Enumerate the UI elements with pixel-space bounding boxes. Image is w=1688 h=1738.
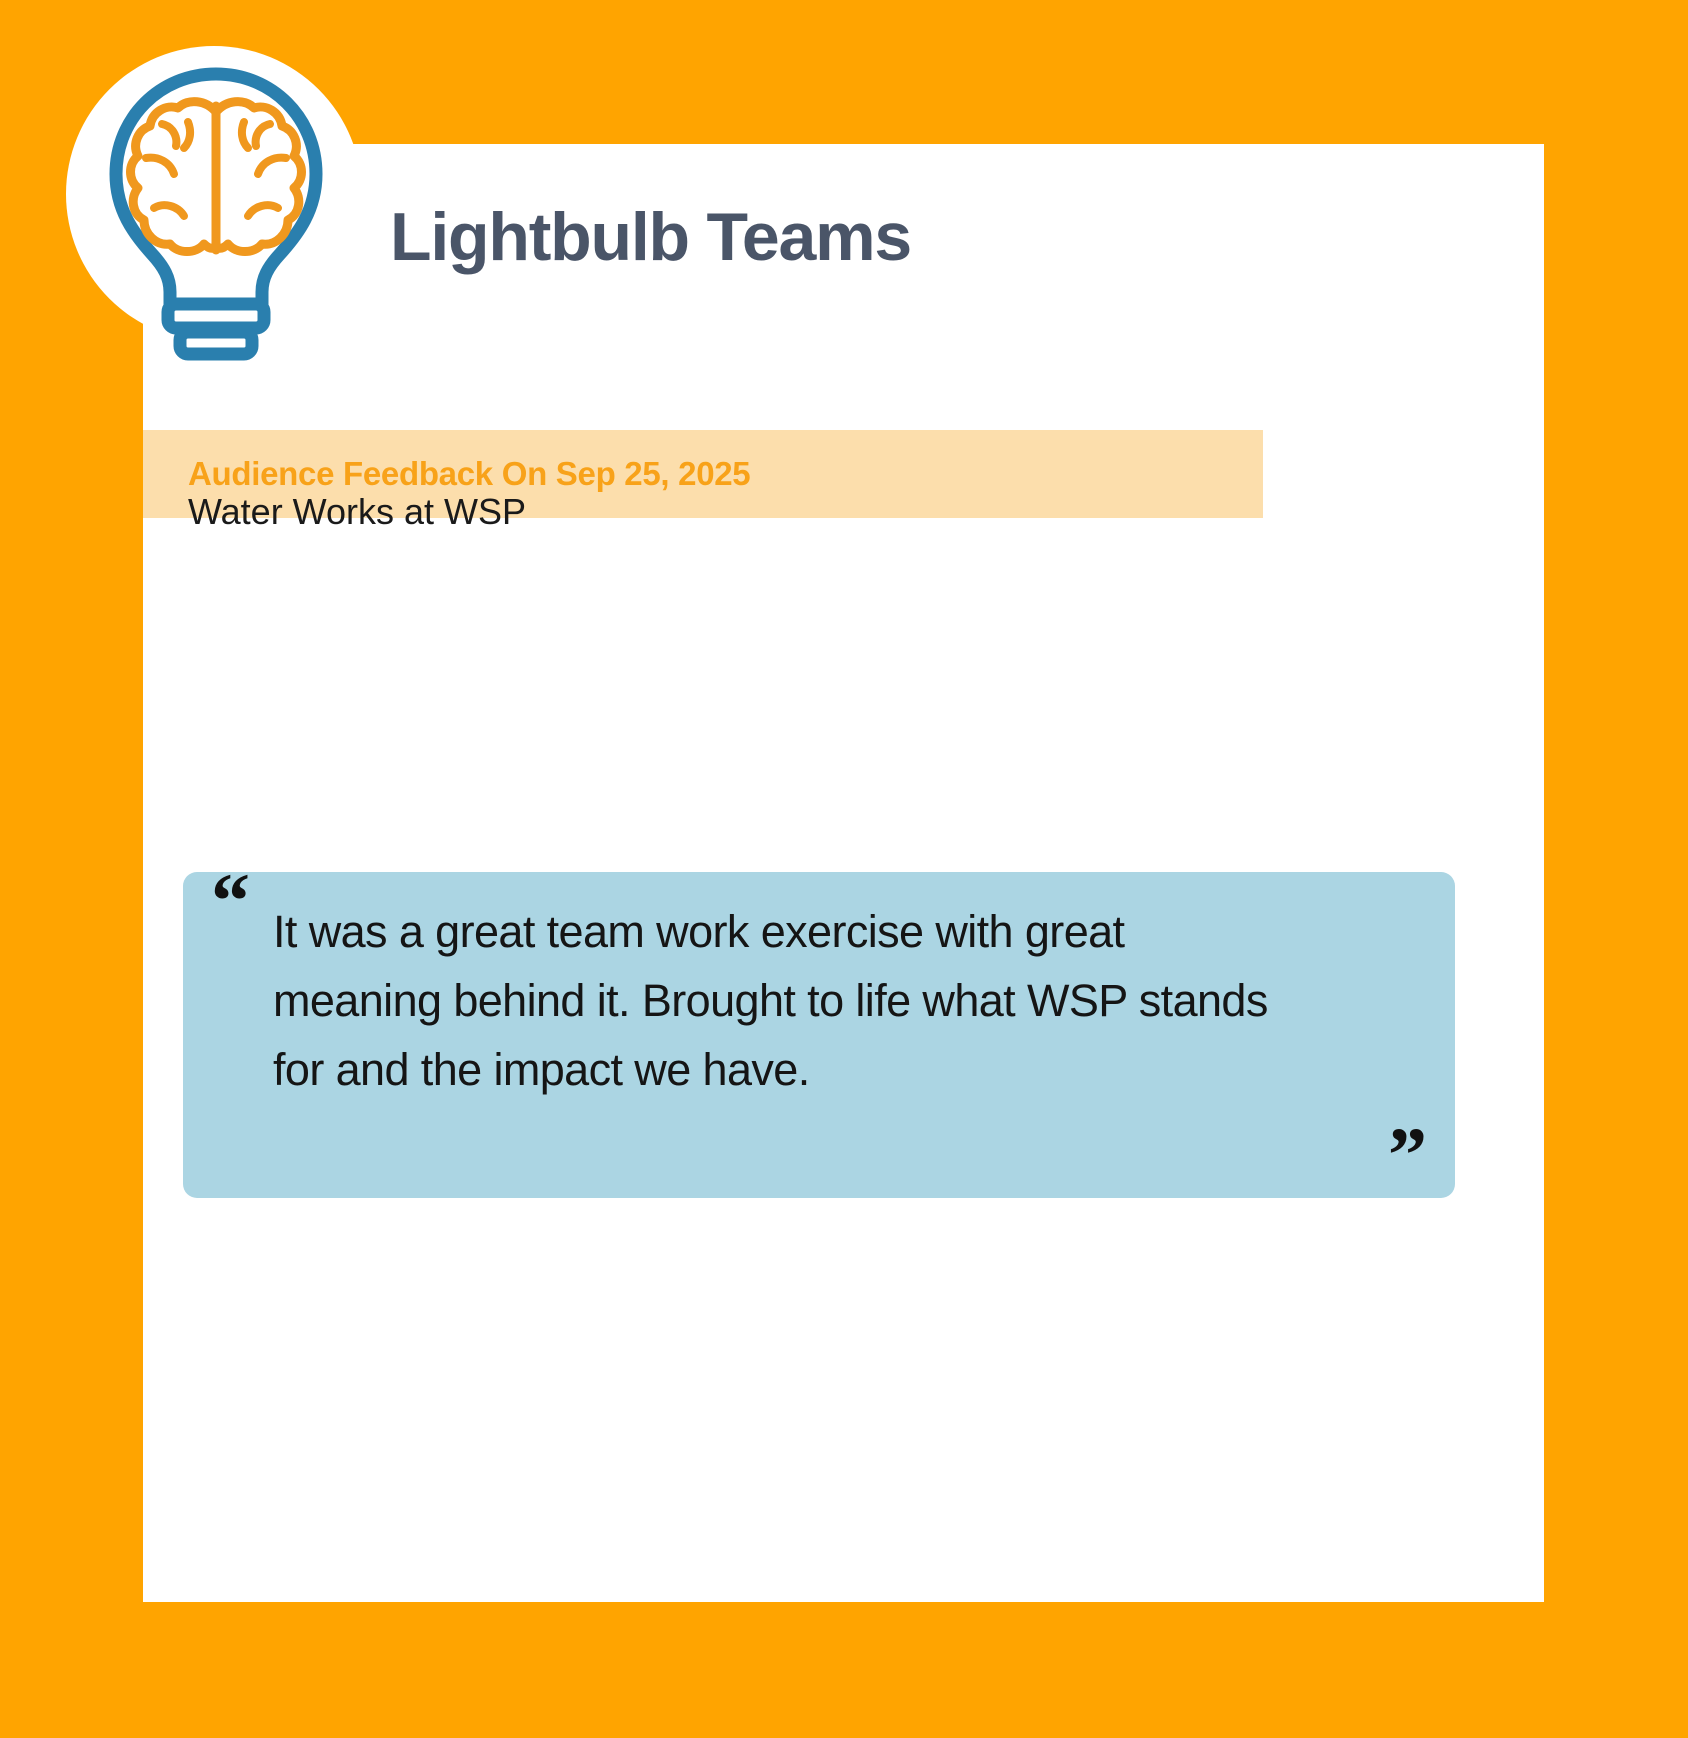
feedback-quote-card: “ It was a great team work exercise with… bbox=[183, 872, 1455, 1198]
quote-close-mark: ” bbox=[1388, 1116, 1427, 1194]
session-name: Water Works at WSP bbox=[188, 486, 526, 538]
feedback-quote-text: It was a great team work exercise with g… bbox=[273, 897, 1283, 1104]
logo-badge bbox=[66, 46, 362, 342]
quote-open-mark: “ bbox=[211, 862, 250, 940]
lightbulb-brain-icon bbox=[102, 64, 330, 364]
feedback-slide: Lightbulb Teams Audience Feedback On Sep… bbox=[0, 0, 1688, 1738]
page-title: Lightbulb Teams bbox=[390, 196, 911, 278]
